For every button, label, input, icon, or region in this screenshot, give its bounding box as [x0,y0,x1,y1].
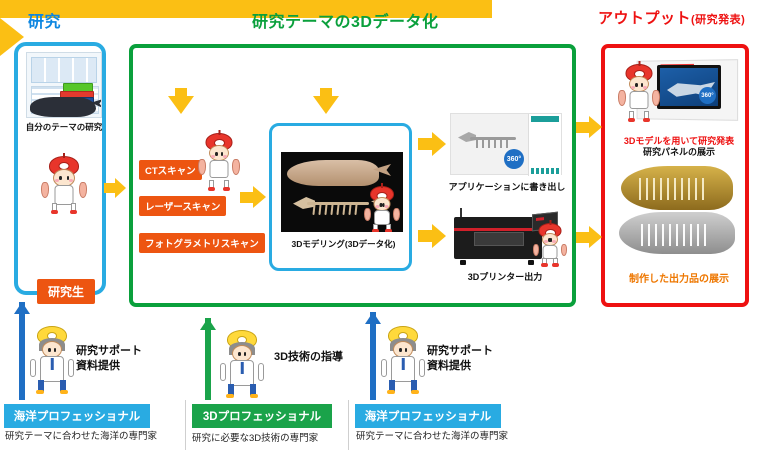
support-divider-2 [348,400,349,450]
arrow-research-to-3d-icon [104,178,126,198]
badge-research-student: 研究生 [37,279,95,304]
support-action-line2-3: 資料提供 [427,359,493,374]
support-arrow-ocean-2-icon [365,312,381,400]
whale-3d-model-image [281,152,403,232]
scan-mascot-icon [199,133,239,189]
column-title-output: アウトプット(研究発表) [598,7,745,28]
flow-branch-arrow-2-icon [313,88,339,114]
support-action-text-3: 研究サポート 資料提供 [427,344,493,374]
flow-branch-arrow-1-icon [168,88,194,114]
support-action-line1-3: 研究サポート [427,344,493,359]
support-divider-1 [185,400,186,450]
support-action-line1-1: 研究サポート [76,344,142,359]
rotate-360-badge-icon: 360° [504,149,524,169]
arrow-printer-to-output-icon [576,226,602,248]
scan-chip-photogrammetry: フォトグラメトリスキャン [139,233,265,253]
model-mascot-icon [365,186,399,232]
support-label-3d: 3Dプロフェッショナル [192,404,332,428]
support-arrow-ocean-1-icon [14,302,30,400]
arrow-model-to-application-icon [418,132,446,156]
panel-research: 自分のテーマの研究 研究生 [14,42,106,295]
support-desc-2: 研究に必要な3D技術の専門家 [192,430,318,444]
presentation-display-image: 360° [617,58,739,128]
support-desc-1: 研究テーマに合わせた海洋の専門家 [5,428,157,442]
arrow-application-to-output-icon [576,116,602,138]
support-desc-3: 研究テーマに合わせた海洋の専門家 [356,428,508,442]
caption-3d-modeling: 3Dモデリング(3Dデータ化) [281,238,406,250]
column-title-output-sub: (研究発表) [691,14,745,26]
tv-screen-3d-model: 360° [657,65,721,109]
app-sidebar-panel [528,114,561,176]
column-title-research: 研究 [28,8,61,32]
diagram-canvas: 研究 研究テーマの3Dデータ化 アウトプット(研究発表) 自分のテーマの研究 研… [0,0,760,456]
support-label-ocean-2: 海洋プロフェッショナル [355,404,501,428]
scan-chip-ct: CTスキャン [139,160,202,180]
column-title-output-main: アウトプット [598,10,691,27]
3d-professional-mascot-icon [222,330,262,400]
arrow-scan-to-model-icon [240,186,266,208]
printer-3d-image [448,207,560,265]
printed-models-image [615,166,741,266]
research-poster-caption: 自分のテーマの研究 [22,121,106,133]
support-label-ocean-1: 海洋プロフェッショナル [4,404,150,428]
panel-output: 360° 3Dモデルを用いて研究発表 研究パネルの展示 制作した出力品の展示 [601,44,749,307]
column-title-3d-data: 研究テーマの3Dデータ化 [252,8,438,32]
output-mascot-icon [619,64,659,120]
caption-output-printed-exhibit: 制作した出力品の展示 [609,270,749,285]
student-mascot-icon [42,156,86,216]
support-action-text-1: 研究サポート 資料提供 [76,344,142,374]
printer-mascot-icon [534,223,566,269]
support-action-line2-1: 資料提供 [76,359,142,374]
ocean-professional-mascot-1-icon [32,326,72,396]
whale-silhouette-icon [30,97,96,117]
caption-3d-printer-output: 3Dプリンター出力 [440,270,570,283]
card-3d-modeling: 3Dモデリング(3Dデータ化) [269,123,412,271]
poster-grid [31,57,97,83]
card-application-export: 360° [450,113,562,175]
rotate-360-badge-output-icon: 360° [699,87,716,104]
caption-output-panel-exhibit: 研究パネルの展示 [609,145,749,158]
scan-chip-laser: レーザースキャン [139,196,226,216]
support-arrow-3d-icon [200,318,216,400]
support-action-text-2: 3D技術の指導 [274,350,343,365]
support-action-line1-2: 3D技術の指導 [274,350,343,365]
ocean-professional-mascot-2-icon [383,326,423,396]
research-poster-image [26,52,102,118]
whale-body-render [287,160,379,186]
arrow-model-to-printer-icon [418,224,446,248]
caption-application-export: アプリケーションに書き出し [442,180,572,193]
